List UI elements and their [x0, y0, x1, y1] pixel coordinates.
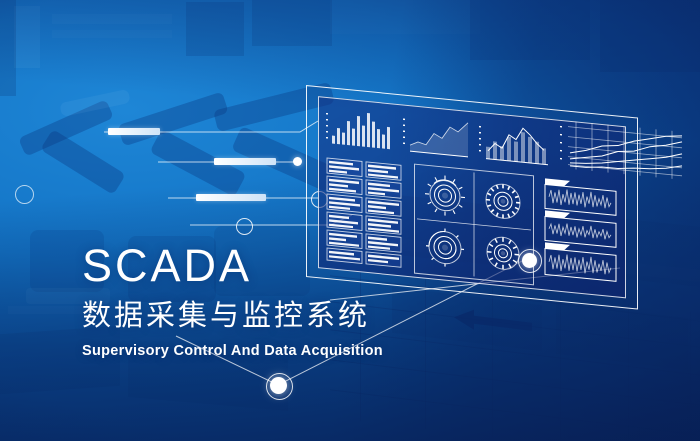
gauge-radial-2: [486, 183, 520, 220]
node-ring-2: [236, 218, 253, 235]
scada-hero-banner: SCADA 数据采集与监控系统 Supervisory Control And …: [0, 0, 700, 441]
gauge-radial-1: [425, 174, 465, 218]
waveform-channel-3: [545, 242, 616, 281]
node-primary-bottom: [270, 377, 287, 394]
connector-bar-3: [196, 194, 266, 201]
waveform-channel-1: [545, 178, 616, 215]
connector-bar-2: [214, 158, 276, 165]
widget-bar-line-combo[interactable]: [484, 118, 550, 166]
gauge-grid[interactable]: [414, 164, 534, 286]
widget-area-trend[interactable]: [408, 111, 470, 159]
page-subtitle-chinese: 数据采集与监控系统: [82, 302, 383, 331]
gauge-radial-3: [426, 227, 464, 269]
waveform-stack[interactable]: [544, 172, 620, 291]
connector-bar-1: [108, 128, 160, 135]
widget-bar-histogram[interactable]: [330, 105, 394, 151]
gauge-radial-4: [487, 236, 519, 271]
page-title: SCADA: [82, 243, 383, 288]
waveform-channel-2: [545, 210, 616, 247]
page-subtitle-english: Supervisory Control And Data Acquisition: [82, 344, 383, 359]
node-ring-3: [15, 185, 34, 204]
node-screen-anchor: [522, 253, 537, 268]
hero-text-block: SCADA 数据采集与监控系统 Supervisory Control And …: [82, 243, 383, 359]
